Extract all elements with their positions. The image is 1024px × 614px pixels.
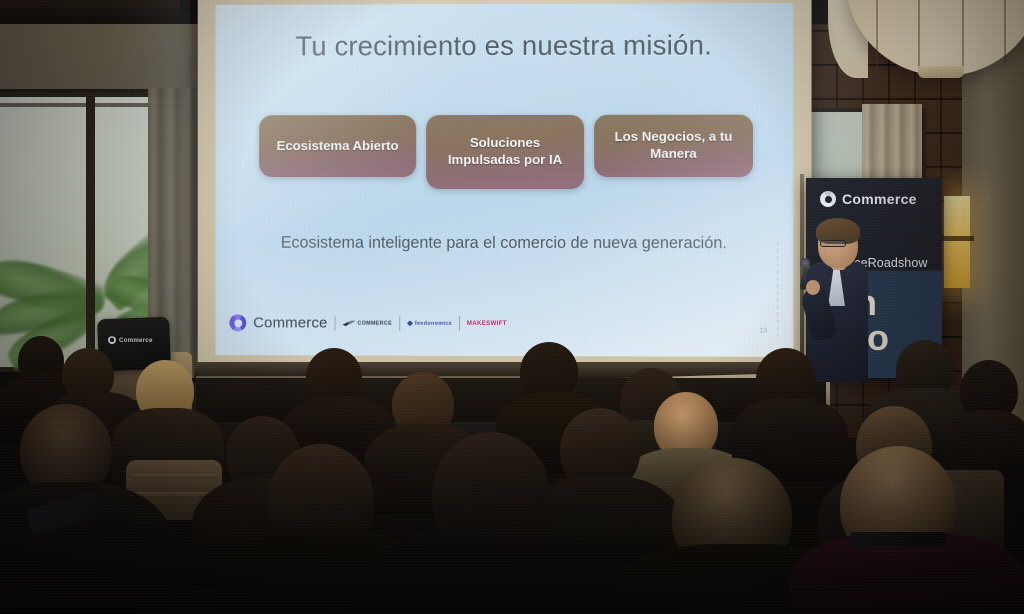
slide-pill-row: Ecosistema Abierto Soluciones Impulsadas… xyxy=(259,115,753,189)
partner-logo-feedonomics: feedonomics xyxy=(407,320,452,326)
sconce-bar xyxy=(940,236,974,241)
pill-soluciones-ia: Soluciones Impulsadas por IA xyxy=(426,115,584,189)
banner-brand-logo: Commerce xyxy=(820,191,917,207)
partner-logo-bigcommerce: COMMERCE xyxy=(342,320,392,326)
banner-brand-name: Commerce xyxy=(842,191,917,207)
slide-logo-row: Commerce COMMERCE feedonomics MAKESWIFT xyxy=(229,314,506,332)
window-mullion xyxy=(86,97,95,367)
swoosh-icon xyxy=(342,320,355,326)
logo-divider xyxy=(399,316,400,331)
slide-surface: Tu crecimiento es nuestra misión. Ecosis… xyxy=(216,3,794,357)
pillow-logo: Commerce xyxy=(108,336,153,344)
glasses-icon xyxy=(820,240,846,247)
commerce-logo-icon xyxy=(820,191,836,207)
lanyard xyxy=(850,532,946,546)
pillow-brand-name: Commerce xyxy=(119,337,153,344)
pill-ecosistema-abierto: Ecosistema Abierto xyxy=(259,115,416,177)
logo-divider xyxy=(459,316,460,331)
slide-edge-ticks xyxy=(777,242,778,338)
diamond-icon xyxy=(407,320,413,326)
chair-slat xyxy=(132,474,218,479)
pill-negocios-manera: Los Negocios, a tu Manera xyxy=(594,115,753,177)
commerce-wordmark: Commerce xyxy=(253,314,327,331)
pendant-lamp-neck xyxy=(918,66,964,78)
commerce-logo-icon xyxy=(229,314,246,331)
slide-subtitle: Ecosistema inteligente para el comercio … xyxy=(249,232,759,255)
microphone-icon xyxy=(800,258,810,268)
slide-title: Tu crecimiento es nuestra misión. xyxy=(216,29,794,62)
presentation-photo-scene: Tu crecimiento es nuestra misión. Ecosis… xyxy=(0,0,1024,614)
slide-page-number: 13 xyxy=(759,328,767,335)
logo-divider xyxy=(335,316,336,331)
wall-sconce-light xyxy=(944,196,970,288)
speaker-hand xyxy=(806,280,820,295)
projection-screen: Tu crecimiento es nuestra misión. Ecosis… xyxy=(198,0,812,369)
partner-logo-makeswift: MAKESWIFT xyxy=(467,320,507,326)
commerce-logo-icon xyxy=(108,336,116,344)
audience-shoulders-foreground xyxy=(378,524,608,614)
